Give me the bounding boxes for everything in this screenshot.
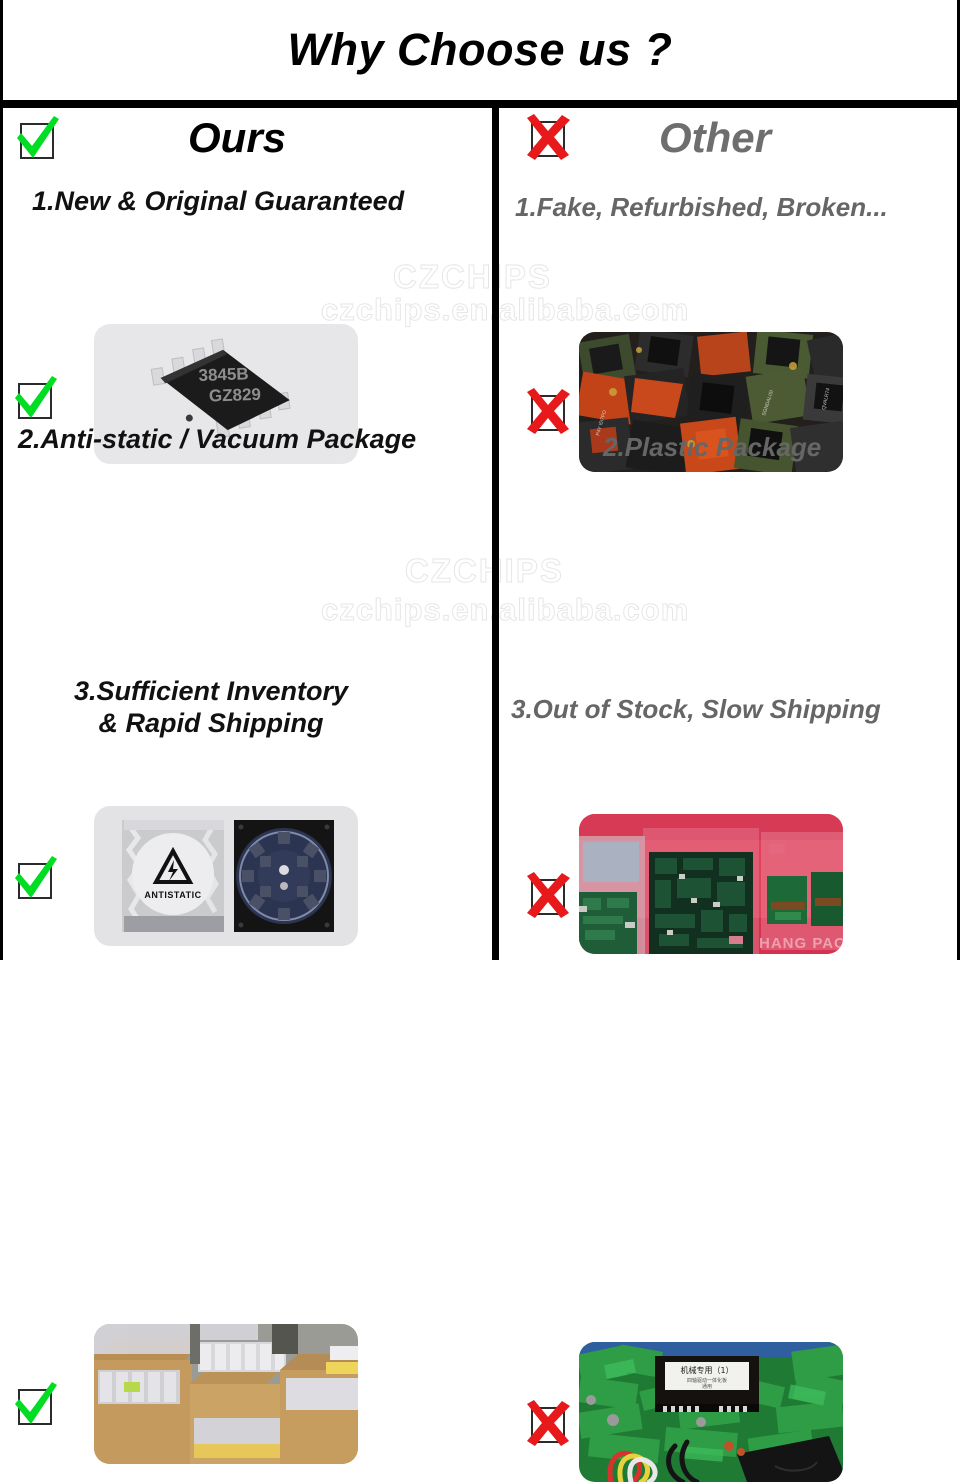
feature-ours-2: 2.Anti-static / Vacuum Package: [6, 424, 492, 456]
svg-text:GZ829: GZ829: [209, 385, 262, 406]
check-icon: [12, 856, 58, 902]
photo-antistatic-bag-and-reel: ANTISTATIC: [94, 806, 358, 946]
page-title: Why Choose us ?: [287, 24, 672, 76]
svg-text:ANTISTATIC: ANTISTATIC: [144, 890, 201, 900]
check-icon: [12, 1382, 58, 1428]
feature-ours-1-label: 1.New & Original Guaranteed: [32, 186, 492, 218]
column-header-other: Other: [499, 108, 960, 180]
comparison-infographic: Why Choose us ? Ours 1.New & Original Gu…: [0, 0, 960, 960]
cross-glyph: [525, 388, 571, 434]
photo-cartons-of-stock: [94, 1324, 358, 1464]
feature-other-3: 3.Out of Stock, Slow Shipping: [499, 694, 960, 724]
column-ours: Ours 1.New & Original Guaranteed: [6, 108, 492, 960]
title-bar: Why Choose us ?: [3, 0, 957, 100]
check-glyph: [12, 1382, 58, 1428]
feature-ours-1: 1.New & Original Guaranteed 3845B: [6, 186, 492, 218]
column-header-ours: Ours: [6, 108, 492, 180]
cross-glyph: [525, 872, 571, 918]
column-other: Other 1.Fake, Refurbished, Broken...: [499, 108, 960, 960]
check-glyph: [14, 116, 60, 162]
column-title-ours: Ours: [188, 114, 286, 162]
check-glyph: [12, 376, 58, 422]
svg-text:四轴驱动一体化板: 四轴驱动一体化板: [687, 1377, 727, 1384]
feature-ours-3: 3.Sufficient Inventory & Rapid Shipping: [6, 676, 492, 739]
cross-icon: [525, 1400, 571, 1446]
check-icon: [12, 376, 58, 422]
header-rule: [3, 100, 957, 108]
svg-text:通用: 通用: [702, 1383, 712, 1390]
feature-ours-3-label: 3.Sufficient Inventory & Rapid Shipping: [74, 676, 348, 739]
feature-other-3-label: 3.Out of Stock, Slow Shipping: [511, 694, 960, 724]
svg-text:3845B: 3845B: [198, 364, 249, 385]
cross-icon: [525, 114, 571, 160]
cross-glyph: [525, 1400, 571, 1446]
cross-glyph: [525, 114, 571, 160]
photo-pcbs-in-pink-bags: HANG PACK: [579, 814, 843, 954]
cross-icon: [525, 388, 571, 434]
feature-other-2: 2.Plastic Package: [499, 432, 960, 462]
check-icon: [14, 116, 60, 162]
column-divider: [492, 108, 499, 960]
feature-other-1-label: 1.Fake, Refurbished, Broken...: [515, 192, 960, 222]
check-glyph: [12, 856, 58, 902]
cross-icon: [525, 872, 571, 918]
column-title-other: Other: [659, 114, 771, 162]
feature-other-1: 1.Fake, Refurbished, Broken...: [499, 192, 960, 222]
feature-other-2-label: 2.Plastic Package: [603, 432, 960, 462]
svg-text:机械专用（1）: 机械专用（1）: [680, 1365, 733, 1375]
photo-watermark-hang-pack: HANG PACK: [759, 935, 843, 952]
feature-ours-2-label: 2.Anti-static / Vacuum Package: [18, 424, 492, 456]
photo-scrap-pcb-pile: 机械专用（1） 四轴驱动一体化板 通用: [579, 1342, 843, 1482]
